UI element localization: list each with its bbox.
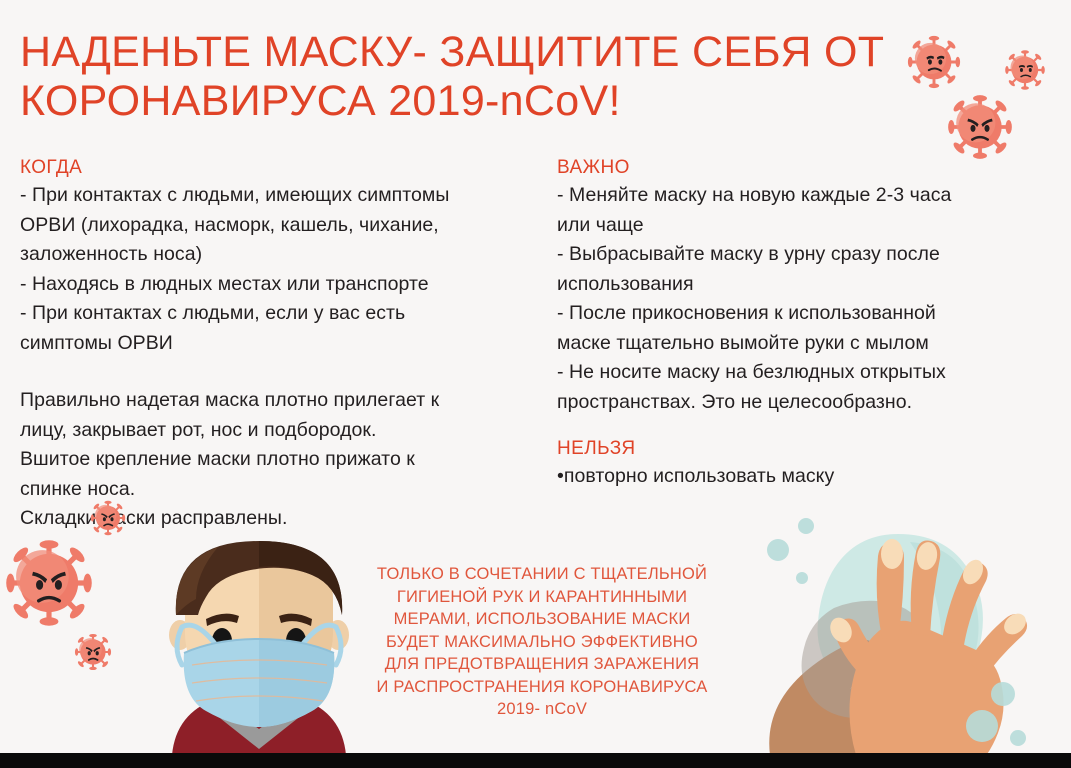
right-column: ВАЖНО - Меняйте маску на новую каждые 2-… bbox=[557, 156, 1057, 492]
page-title: НАДЕНЬТЕ МАСКУ- ЗАЩИТИТЕ СЕБЯ ОТ КОРОНАВ… bbox=[20, 28, 900, 126]
center-message-text: ТОЛЬКО В СОЧЕТАНИИ С ТЩАТЕЛЬНОЙ ГИГИЕНОЙ… bbox=[348, 563, 736, 721]
poster-canvas: НАДЕНЬТЕ МАСКУ- ЗАЩИТИТЕ СЕБЯ ОТ КОРОНАВ… bbox=[0, 0, 1071, 768]
left-column: КОГДА - При контактах с людьми, имеющих … bbox=[20, 156, 540, 534]
virus-top-right-1-icon bbox=[905, 33, 963, 91]
virus-top-right-2-icon bbox=[1003, 48, 1047, 92]
washing-hands-illustration bbox=[760, 512, 1060, 755]
boy-with-mask-illustration bbox=[152, 523, 367, 755]
column-spacer bbox=[557, 417, 1057, 437]
bottom-black-bar bbox=[0, 753, 1071, 768]
section-heading-important: ВАЖНО bbox=[557, 156, 1057, 179]
section-heading-when: КОГДА bbox=[20, 156, 540, 179]
virus-left-small-2-icon bbox=[72, 631, 114, 673]
important-list-text: - Меняйте маску на новую каждые 2-3 часа… bbox=[557, 181, 1057, 417]
section-heading-forbidden: НЕЛЬЗЯ bbox=[557, 437, 1057, 460]
column-spacer bbox=[20, 358, 540, 386]
virus-top-right-3-icon bbox=[945, 92, 1015, 162]
virus-left-large-icon bbox=[2, 536, 96, 630]
when-list-text: - При контактах с людьми, имеющих симпто… bbox=[20, 181, 540, 358]
virus-left-small-1-icon bbox=[88, 498, 128, 538]
forbidden-list-text: •повторно использовать маску bbox=[557, 462, 1057, 492]
